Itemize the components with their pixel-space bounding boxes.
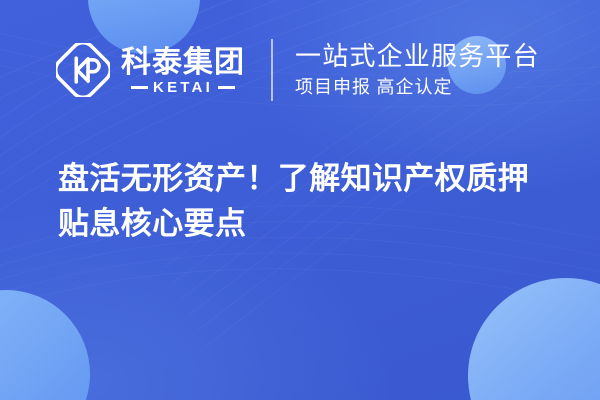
brand-name-en: KETAI (153, 80, 213, 95)
tagline-sub: 项目申报 高企认定 (295, 76, 540, 99)
headline-line-2: 贴息核心要点 (58, 201, 558, 246)
promo-banner: 科泰集团 KETAI 一站式企业服务平台 项目申报 高企认定 盘活无形资产！了解… (0, 0, 600, 400)
headline: 盘活无形资产！了解知识产权质押 贴息核心要点 (58, 156, 558, 246)
brand-rule-left-icon (131, 86, 148, 89)
tagline-main: 一站式企业服务平台 (295, 41, 540, 71)
brand-name-cn: 科泰集团 (121, 47, 245, 79)
brand-rule-right-icon (218, 86, 235, 89)
ketai-logo-icon (56, 43, 110, 97)
headline-line-1: 盘活无形资产！了解知识产权质押 (58, 156, 558, 201)
brand-text: 科泰集团 KETAI (121, 45, 245, 96)
tagline-block: 一站式企业服务平台 项目申报 高企认定 (295, 41, 540, 100)
decor-circle-bottom-right (468, 278, 600, 400)
brand-name-en-row: KETAI (121, 80, 245, 95)
decor-circle-bottom-left (0, 290, 90, 400)
header-divider (271, 39, 273, 101)
banner-header: 科泰集团 KETAI 一站式企业服务平台 项目申报 高企认定 (0, 0, 600, 140)
brand-lockup: 科泰集团 KETAI (56, 43, 245, 97)
